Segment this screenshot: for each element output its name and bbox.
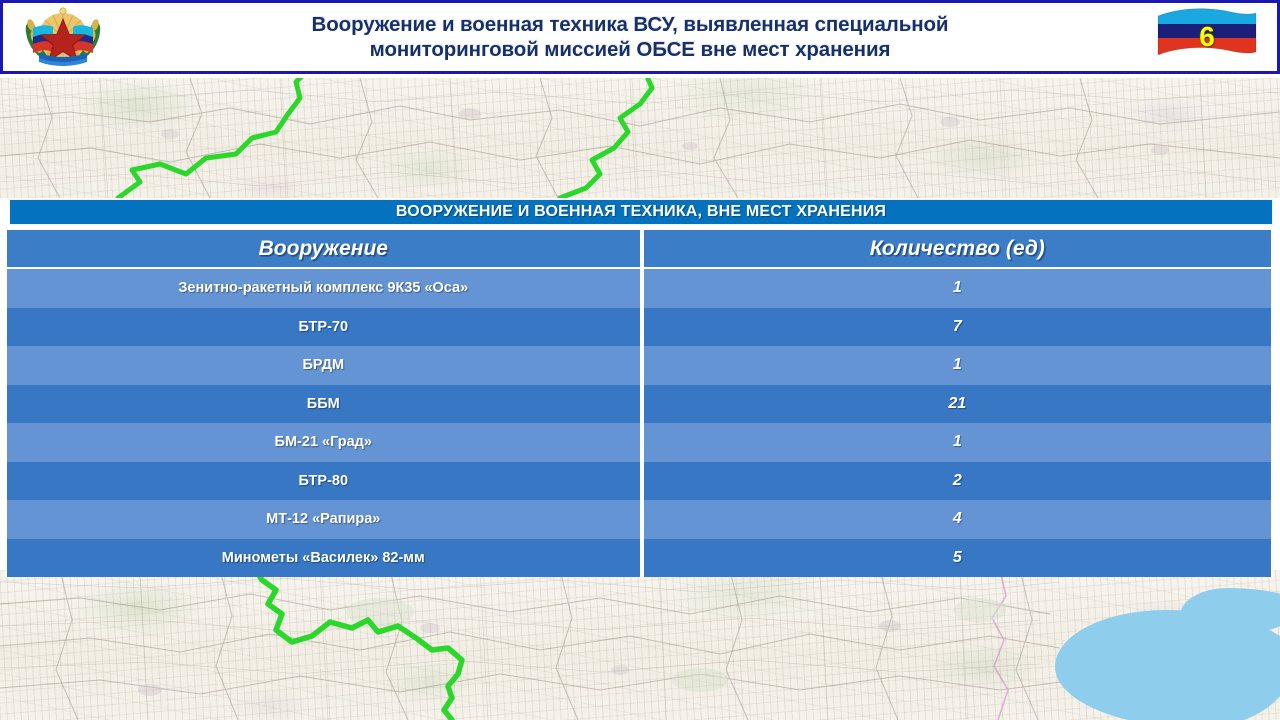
- table-header-row: Вооружение Количество (ед): [5, 228, 1273, 269]
- table-row: ББМ 21: [5, 385, 1273, 424]
- cell-weapon-qty: 21: [642, 385, 1273, 424]
- demarcation-line: [0, 78, 1280, 198]
- cell-weapon-qty: 7: [642, 308, 1273, 347]
- cell-weapon-qty: 5: [642, 539, 1273, 578]
- table-row: БРДМ 1: [5, 346, 1273, 385]
- emblem-container: [3, 3, 123, 71]
- table-row: БТР-70 7: [5, 308, 1273, 347]
- table-row: МТ-12 «Рапира» 4: [5, 500, 1273, 539]
- dpr-flag-icon: [1153, 6, 1261, 68]
- cell-weapon-qty: 1: [642, 269, 1273, 308]
- cell-weapon-name: БРДМ: [5, 346, 642, 385]
- cell-weapon-qty: 4: [642, 500, 1273, 539]
- weapons-table: Вооружение Количество (ед) Зенитно-ракет…: [5, 228, 1273, 577]
- cell-weapon-name: БТР-70: [5, 308, 642, 347]
- title-container: Вооружение и военная техника ВСУ, выявле…: [123, 12, 1137, 62]
- table-row: Зенитно-ракетный комплекс 9К35 «Оса» 1: [5, 269, 1273, 308]
- cell-weapon-qty: 2: [642, 462, 1273, 501]
- slide-header: Вооружение и военная техника ВСУ, выявле…: [0, 0, 1280, 74]
- flag-container: 6: [1137, 6, 1277, 68]
- column-header-weapon: Вооружение: [5, 228, 642, 269]
- cell-weapon-name: Минометы «Василек» 82-мм: [5, 539, 642, 578]
- table-title-bar: ВООРУЖЕНИЕ И ВОЕННАЯ ТЕХНИКА, ВНЕ МЕСТ Х…: [9, 199, 1273, 225]
- table-row: Минометы «Василек» 82-мм 5: [5, 539, 1273, 578]
- topographic-map-strip-bottom: [0, 570, 1280, 720]
- weapons-table-container: ВООРУЖЕНИЕ И ВОЕННАЯ ТЕХНИКА, ВНЕ МЕСТ Х…: [5, 199, 1273, 577]
- topographic-map-strip-top: [0, 78, 1280, 198]
- demarcation-line: [0, 570, 1280, 720]
- table-title-text: ВООРУЖЕНИЕ И ВОЕННАЯ ТЕХНИКА, ВНЕ МЕСТ Х…: [396, 203, 886, 221]
- slide-root: Вооружение и военная техника ВСУ, выявле…: [0, 0, 1280, 720]
- table-row: БТР-80 2: [5, 462, 1273, 501]
- cell-weapon-qty: 1: [642, 423, 1273, 462]
- column-header-quantity: Количество (ед): [642, 228, 1273, 269]
- cell-weapon-name: Зенитно-ракетный комплекс 9К35 «Оса»: [5, 269, 642, 308]
- table-row: БМ-21 «Град» 1: [5, 423, 1273, 462]
- cell-weapon-name: БТР-80: [5, 462, 642, 501]
- cell-weapon-name: БМ-21 «Град»: [5, 423, 642, 462]
- table-body: Зенитно-ракетный комплекс 9К35 «Оса» 1 Б…: [5, 269, 1273, 577]
- lpr-coat-of-arms-icon: [17, 6, 109, 68]
- cell-weapon-qty: 1: [642, 346, 1273, 385]
- page-title: Вооружение и военная техника ВСУ, выявле…: [312, 12, 949, 62]
- cell-weapon-name: МТ-12 «Рапира»: [5, 500, 642, 539]
- cell-weapon-name: ББМ: [5, 385, 642, 424]
